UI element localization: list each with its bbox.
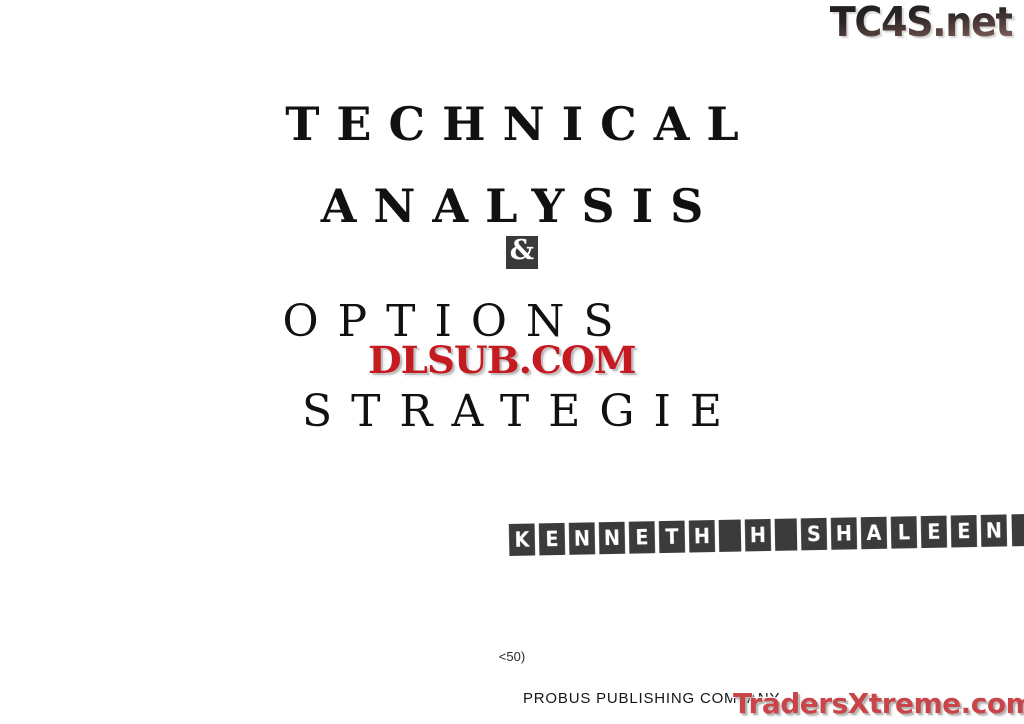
tradersxtreme-watermark: TradersXtreme.com bbox=[733, 687, 1024, 721]
author-tile-letter: H bbox=[689, 520, 715, 552]
title-line-strategie: STRATEGIE bbox=[0, 388, 1024, 436]
author-tile-letter: N bbox=[599, 522, 625, 554]
author-tile-letter: T bbox=[659, 521, 685, 553]
author-tile-letter: H bbox=[745, 519, 771, 551]
author-tile-letter: N bbox=[569, 522, 595, 554]
author-tile-letter: E bbox=[921, 516, 947, 548]
author-tile-blank bbox=[1012, 513, 1024, 546]
author-tile-blank bbox=[775, 518, 798, 550]
ampersand-container: & bbox=[0, 236, 1024, 269]
book-cover-page: TC4S.net TC4S.net TECHNICAL ANALYSIS & O… bbox=[0, 0, 1024, 724]
author-tile-blank bbox=[719, 520, 742, 552]
author-tile-letter: E bbox=[629, 521, 655, 553]
author-tile-letter: E bbox=[951, 515, 977, 547]
author-tile-letter: N bbox=[981, 514, 1007, 546]
page-number-label: <50) bbox=[0, 649, 1024, 664]
author-tile-letter: A bbox=[861, 517, 887, 549]
tc4s-logo-watermark: TC4S.net bbox=[829, 2, 1012, 43]
dlsub-watermark: DLSUB.COM bbox=[368, 339, 636, 381]
author-tile-letter: E bbox=[539, 523, 565, 555]
title-line-technical: TECHNICAL bbox=[0, 98, 1024, 150]
author-name-strip: KENNETHHSHALEEN bbox=[508, 513, 1024, 556]
author-tile-letter: S bbox=[801, 518, 827, 550]
title-line-analysis: ANALYSIS bbox=[0, 180, 1024, 232]
author-tile-letter: K bbox=[509, 523, 535, 555]
ampersand-badge: & bbox=[506, 236, 538, 269]
author-tile-letter: L bbox=[891, 516, 917, 548]
author-tile-letter: H bbox=[831, 517, 857, 549]
